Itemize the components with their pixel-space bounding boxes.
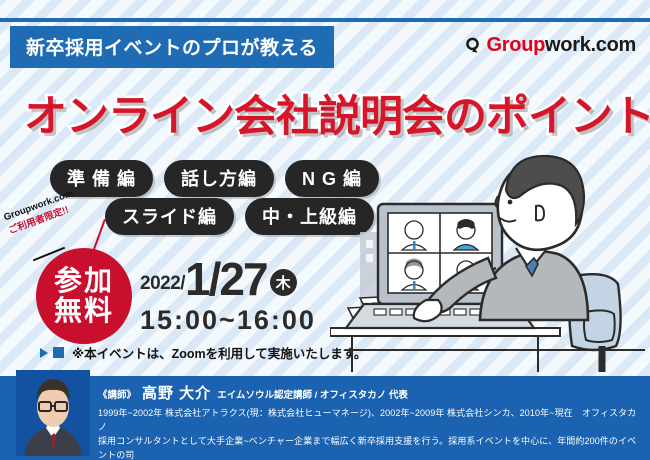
webinar-banner: 新卒採用イベントのプロが教える Groupwork.com オンライン会社説明会… [0,0,650,460]
map-pin-q-icon [463,36,482,55]
top-rule [0,18,650,22]
event-time: 15:00~16:00 [140,305,316,336]
square-marker-icon [53,347,64,358]
header-ribbon: 新卒採用イベントのプロが教える [10,26,334,68]
zoom-note: ※本イベントは、Zoomを利用して実施いたします。 [40,343,367,362]
speaker-bio-line: 採用コンサルタントとして大手企業~ベンチャー企業まで幅広く新卒採用支援を行う。採… [98,435,642,460]
zoom-note-text: ※本イベントは、Zoomを利用して実施いたします。 [72,343,367,362]
illustration-person-laptop [330,140,650,372]
speaker-title: エイムソウル認定講師 / オフィスタカノ 代表 [217,387,408,401]
page-title: オンライン会社説明会のポイント [24,82,650,144]
logo-text: Groupwork.com [487,34,636,57]
logo-text-black: work.com [545,34,636,56]
event-date: 2022/ 1/27 木 [140,258,297,300]
speaker-bio-line: 1999年~2002年 株式会社アトラクス(現：株式会社ヒューマネージ)、200… [98,407,642,435]
free-badge-line2: 無料 [54,296,114,326]
speaker-profile-bar: 《講師》 高野 大介 エイムソウル認定講師 / オフィスタカノ 代表 1999年… [0,376,650,460]
speaker-role-label: 《講師》 [98,387,136,401]
speaker-bio: 1999年~2002年 株式会社アトラクス(現：株式会社ヒューマネージ)、200… [98,407,642,460]
free-badge-line1: 参加 [54,266,114,296]
speaker-name: 高野 大介 [142,382,211,403]
logo-text-red: Group [487,34,546,56]
tag-pill: スライド編 [105,198,234,235]
speaker-details: 《講師》 高野 大介 エイムソウル認定講師 / オフィスタカノ 代表 1999年… [98,382,642,460]
event-day: 1/27 [185,258,267,300]
speaker-headline: 《講師》 高野 大介 エイムソウル認定講師 / オフィスタカノ 代表 [98,382,642,403]
free-participation-badge: 参加 無料 [36,248,132,344]
event-day-of-week: 木 [270,269,297,296]
triangle-marker-icon [40,348,48,358]
speaker-avatar [16,370,90,456]
tag-pill: 話し方編 [164,160,274,197]
groupwork-logo[interactable]: Groupwork.com [463,34,636,57]
event-year: 2022/ [140,273,185,300]
